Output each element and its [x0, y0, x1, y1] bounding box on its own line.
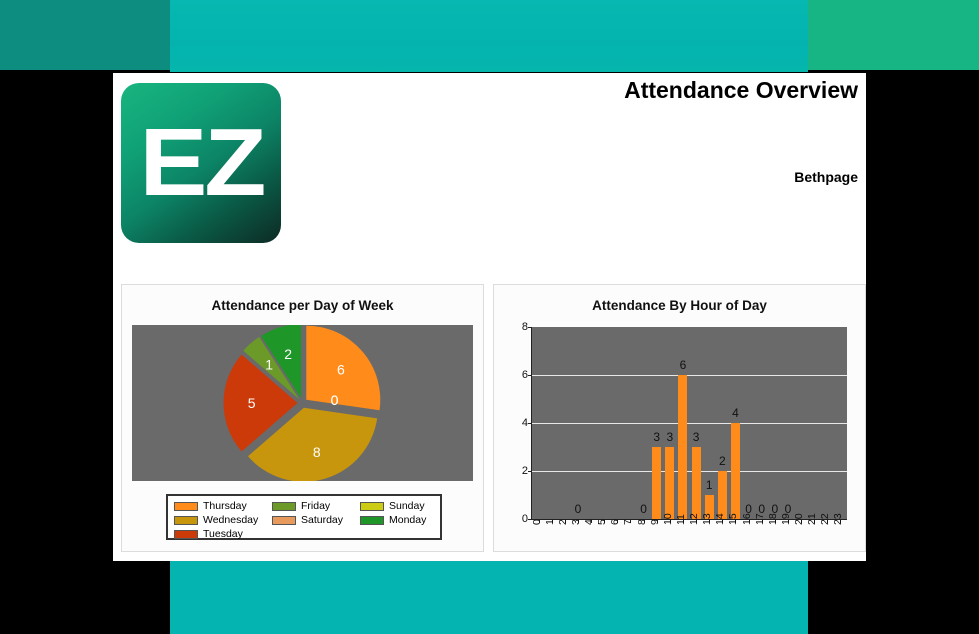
pie-legend-item[interactable]: Thursday: [174, 499, 272, 513]
pie-legend-item[interactable]: Tuesday: [174, 527, 272, 541]
pie-legend-item[interactable]: Friday: [272, 499, 360, 513]
pie-slice-label: 5: [248, 395, 256, 411]
x-axis-tick-label: 21: [806, 513, 818, 525]
pie-slice-label: 6: [337, 362, 345, 378]
pie-legend-item[interactable]: Wednesday: [174, 513, 272, 527]
bar-plot-area: 02468 0033631240000 01234567891011121314…: [531, 327, 847, 520]
pie-legend-item[interactable]: Monday: [360, 513, 442, 527]
x-axis-tick-label: 7: [622, 519, 634, 525]
bar-value-label: 3: [693, 430, 700, 444]
pie-slice-label: 2: [284, 346, 292, 362]
x-axis-tick-label: 9: [649, 519, 661, 525]
pie-slice-label: 1: [265, 357, 273, 373]
legend-color-swatch: [272, 502, 296, 511]
attendance-per-day-of-week-panel: Attendance per Day of Week 6851200 Thurs…: [121, 284, 484, 552]
x-axis-tick-label: 17: [754, 513, 766, 525]
pie-legend-grid: ThursdayFridaySundayWednesdaySaturdayMon…: [174, 499, 436, 541]
pie-legend-item[interactable]: Saturday: [272, 513, 360, 527]
x-axis-tick-label: 8: [636, 519, 648, 525]
x-axis-tick-label: 22: [819, 513, 831, 525]
bar[interactable]: [678, 375, 687, 519]
bar-chart-body: 02468 0033631240000 01234567891011121314…: [494, 323, 867, 553]
legend-label: Monday: [389, 514, 426, 526]
pie-chart-svg: 6851200: [132, 325, 473, 481]
bar-value-label: 0: [640, 502, 647, 516]
bar-chart-title: Attendance By Hour of Day: [494, 298, 865, 313]
attendance-by-hour-of-day-panel: Attendance By Hour of Day 02468 00336312…: [493, 284, 866, 552]
legend-color-swatch: [360, 502, 384, 511]
bar-series: 0033631240000: [532, 327, 847, 519]
x-axis-tick-label: 23: [832, 513, 844, 525]
x-axis-tick-label: 20: [793, 513, 805, 525]
x-axis-tick-label: 13: [701, 513, 713, 525]
pie-legend: ThursdayFridaySundayWednesdaySaturdayMon…: [166, 494, 442, 540]
background-band-bottom: [170, 561, 808, 634]
legend-color-swatch: [272, 516, 296, 525]
legend-spacer: [272, 527, 360, 541]
x-axis-tick-label: 4: [583, 519, 595, 525]
legend-color-swatch: [174, 530, 198, 539]
legend-label: Tuesday: [203, 528, 243, 540]
legend-label: Wednesday: [203, 514, 258, 526]
bar[interactable]: [718, 471, 727, 519]
bar-value-label: 0: [575, 502, 582, 516]
bar-value-label: 3: [653, 430, 660, 444]
report-card: EZ Attendance Overview Bethpage Attendan…: [113, 73, 866, 561]
bar[interactable]: [692, 447, 701, 519]
x-axis-tick-label: 15: [727, 513, 739, 525]
page-title: Attendance Overview: [624, 77, 858, 104]
ez-logo-text: EZ: [139, 115, 263, 211]
charts-row: Attendance per Day of Week 6851200 Thurs…: [121, 284, 866, 555]
x-axis-tick-label: 11: [675, 514, 687, 525]
background-band-top-right: [808, 0, 979, 70]
pie-slice-label: 0: [331, 392, 339, 408]
bar-value-label: 1: [706, 478, 713, 492]
legend-label: Thursday: [203, 500, 247, 512]
legend-label: Saturday: [301, 514, 343, 526]
x-axis-tick-label: 2: [557, 519, 569, 525]
x-axis-tick-label: 3: [570, 519, 582, 525]
legend-color-swatch: [360, 516, 384, 525]
x-axis-tick-label: 10: [662, 513, 674, 525]
location-label: Bethpage: [794, 169, 858, 185]
pie-slice-label: 8: [313, 444, 321, 460]
ez-logo: EZ: [121, 83, 281, 243]
pie-chart-title: Attendance per Day of Week: [122, 298, 483, 313]
x-axis-tick-label: 6: [609, 519, 621, 525]
x-axis-tick-label: 0: [531, 519, 543, 525]
bar[interactable]: [665, 447, 674, 519]
bar-value-label: 4: [732, 406, 739, 420]
legend-label: Sunday: [389, 500, 425, 512]
legend-spacer: [360, 527, 442, 541]
background-band-top-center: [170, 0, 808, 72]
bar[interactable]: [652, 447, 661, 519]
bar[interactable]: [731, 423, 740, 519]
bar-value-label: 2: [719, 454, 726, 468]
legend-label: Friday: [301, 500, 330, 512]
x-axis-tick-label: 18: [767, 513, 779, 525]
legend-color-swatch: [174, 516, 198, 525]
x-axis-tick-label: 16: [741, 513, 753, 525]
legend-color-swatch: [174, 502, 198, 511]
pie-plot-area: 6851200: [132, 325, 473, 481]
x-axis-tick-label: 12: [688, 513, 700, 525]
x-axis-tick-label: 19: [780, 513, 792, 525]
background-band-top-left: [0, 0, 170, 70]
pie-legend-item[interactable]: Sunday: [360, 499, 442, 513]
x-axis-tick-label: 14: [714, 513, 726, 525]
x-axis-tick-label: 1: [544, 519, 556, 525]
bar-value-label: 6: [680, 358, 687, 372]
x-axis-tick-label: 5: [596, 519, 608, 525]
bar-value-label: 3: [666, 430, 673, 444]
